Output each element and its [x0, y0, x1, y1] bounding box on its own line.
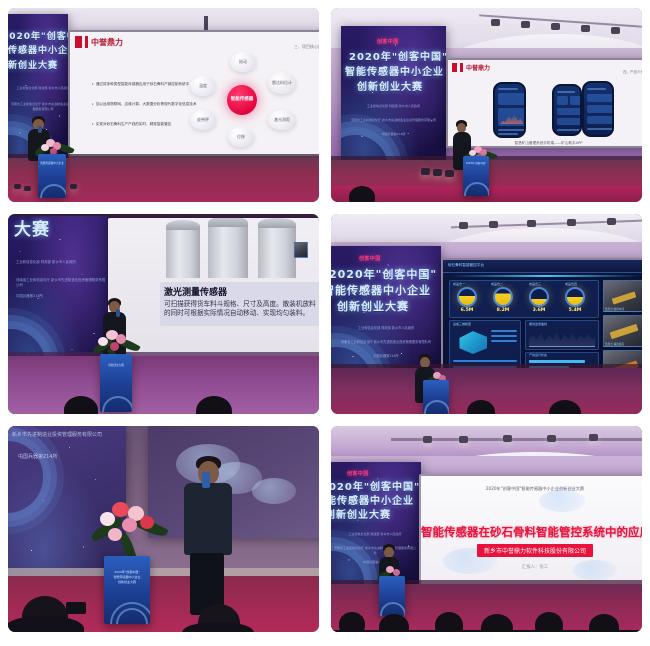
floor-light — [421, 168, 430, 175]
gauge-value-1: 6.5M — [455, 308, 479, 313]
backdrop-sponsor-1: 工业和信息化部 财政部 新乡市人民政府 — [345, 104, 442, 109]
podium-text-3: 创新创业大赛 — [104, 580, 150, 584]
backdrop-sponsor-institute: 中国兵器第214所 — [18, 454, 126, 462]
speaker-arm-left — [190, 488, 203, 530]
screen-hanger — [204, 16, 208, 30]
flower-petal — [122, 518, 137, 532]
gauge-label-3: 成品仓三 — [529, 282, 541, 286]
slide-logo: 中誉鼎力 — [75, 36, 123, 48]
logo-bar-icon — [75, 36, 82, 48]
backdrop-sponsor-3: 中国兵器第214所 — [16, 294, 106, 299]
stage-spotlight — [459, 436, 468, 443]
silo-structure — [208, 222, 248, 278]
photo-card-4[interactable]: 创客中国 2020年"创客中国" 智能传感器中小企业 创新创业大赛 工业和信息化… — [331, 214, 642, 414]
phone-card — [570, 96, 581, 105]
stage-spotlight — [607, 218, 616, 225]
camera-label-2: 监控点 输送廊道 — [605, 342, 624, 346]
silo-structure — [258, 224, 296, 278]
microphone-icon — [116, 309, 120, 317]
silo-structure — [166, 226, 200, 278]
podium: 2020年"创客中国" — [463, 156, 489, 196]
silo-top — [208, 218, 248, 227]
slide-header: 2020年"创客中国"智能传感器中小企业创新创业大赛 — [421, 486, 642, 492]
gauge-1 — [457, 287, 477, 307]
floor-light — [445, 170, 454, 177]
diagram-node-laser-range: 激光测距 — [268, 110, 296, 130]
gauge-3 — [529, 287, 549, 307]
podium-swirl-graphic — [424, 400, 449, 414]
slide-footer: 汇报人：张工 — [421, 564, 642, 570]
podium-swirl-graphic — [40, 184, 66, 198]
flower-petal — [110, 342, 119, 351]
slide-subtitle: 新乡市中誉鼎力软件科技股份有限公司 — [477, 544, 593, 557]
phone-card — [557, 96, 568, 105]
podium-text: 智能传感器中小企业 — [38, 162, 66, 166]
phone-card — [587, 105, 613, 113]
stage-spotlight — [551, 23, 560, 30]
stage-spotlight — [547, 435, 556, 442]
audience-body — [331, 630, 642, 632]
diagram-center-node: 智能传感器 — [227, 85, 257, 115]
slide-bullet-1: 通过将多种类型智能传感器应用于砂石骨料产销控制系统中 — [92, 82, 197, 87]
phone-row — [587, 128, 613, 130]
model-row — [491, 335, 517, 337]
floor-light — [70, 184, 77, 189]
list-bar — [529, 360, 585, 363]
microphone-icon — [38, 126, 42, 133]
stage-edge — [8, 352, 319, 356]
photo-card-1[interactable]: 2020年"创客中国" 智能传感器中小企业 创新创业大赛 工业和信息化部 财政部… — [8, 8, 319, 202]
gauge-value-4: 5.4M — [563, 308, 587, 313]
backdrop-title-line3: 创新创业大赛 — [331, 510, 391, 523]
camera-object — [610, 324, 639, 339]
backdrop-title-line2: 智能传感器中小企业 — [345, 67, 444, 80]
gauge-value-3: 3.6M — [527, 308, 551, 313]
photo-card-6[interactable]: 创客中国 2020年"创客中国" 智能传感器中小企业 创新创业大赛 工业和信息化… — [331, 426, 642, 632]
photo-5-scene: 新乡市先进制造业投资管理服务有限公司 中国兵器第214所 — [8, 426, 319, 632]
podium-text-1: 2020年"创客中国" — [104, 570, 150, 574]
diagram-node-radar-level: 雷达料位计 — [268, 72, 296, 94]
slide-brand: 中誉鼎力 — [466, 63, 490, 72]
podium: 2020年"创客中国" 智能传感器中小企业 创新创业大赛 — [104, 556, 150, 624]
camera-object — [612, 291, 637, 304]
projection-screen: 中誉鼎力 三、项目核心技术 通过将多种类型智能传感器应用于砂石骨料产销控制系统中… — [68, 30, 319, 158]
photo-gallery-grid: 2020年"创客中国" 智能传感器中小企业 创新创业大赛 工业和信息化部 财政部… — [0, 0, 650, 646]
wave-panel-label: 振动监测曲线 — [529, 322, 547, 326]
dashboard-title: 砂石骨料智能管控平台 — [448, 263, 484, 268]
stage-floor — [8, 356, 319, 414]
phone-card — [587, 116, 613, 124]
stage-edge — [331, 364, 642, 368]
phone-row — [498, 133, 518, 135]
backdrop-title-line1: 2020年"创客中国" — [349, 52, 446, 65]
backdrop-title-line3: 创新创业大赛 — [8, 61, 58, 72]
speaker-arm-right — [214, 488, 227, 530]
phone-mockup-mid — [552, 84, 582, 136]
model-row — [453, 360, 517, 362]
backdrop-sponsor-3: 中国兵器第214所 — [345, 132, 442, 137]
stage-spotlight — [423, 436, 432, 443]
phone-mockup-left — [493, 82, 526, 138]
photo-1-scene: 2020年"创客中国" 智能传感器中小企业 创新创业大赛 工业和信息化部 财政部… — [8, 8, 319, 202]
callout-box: 激光测量传感器 可扫描获得货车料斗规格、尺寸及高度。散装机放料的同时可根据实际情… — [160, 282, 319, 326]
backdrop-title-line1: 2020年"创客中国" — [331, 268, 437, 282]
stage-spotlight — [491, 19, 500, 26]
backdrop-logo: 创客中国 — [347, 470, 369, 477]
silo-equipment — [294, 242, 308, 258]
podium-text: 创新创业大赛 — [100, 364, 132, 368]
backdrop-sponsors-2: 河南省工业和信息化厅 新乡市先进制造业投资管理服务有限公司 — [10, 102, 68, 111]
callout-title: 激光测量传感器 — [164, 285, 316, 298]
backdrop-title-line2: 智能传感器中小企业 — [8, 46, 68, 57]
photo-card-3[interactable]: 大赛 工业和信息化部 财政部 新乡市人民政府 河南省工业和信息化厅 新乡市先进制… — [8, 214, 319, 414]
photo-4-scene: 创客中国 2020年"创客中国" 智能传感器中小企业 创新创业大赛 工业和信息化… — [331, 214, 642, 414]
stage-spotlight — [581, 25, 590, 32]
stage-edge — [8, 568, 319, 576]
list-panel-label: 产线运行状态 — [529, 353, 547, 357]
flower-petal — [112, 502, 129, 517]
flower-petal — [98, 337, 108, 346]
stage-spotlight — [589, 434, 598, 441]
cloud-graphic — [539, 490, 585, 512]
backdrop-title-partial: 大赛 — [14, 220, 50, 241]
podium-swirl-graphic — [464, 182, 489, 196]
phone-card — [557, 118, 581, 125]
podium — [379, 576, 405, 616]
stage-spotlight — [527, 220, 536, 227]
cloud-graphic — [252, 478, 296, 504]
backdrop-sponsor-2: 河南省工业和信息化厅 新乡市先进制造业投资管理服务有限公司 — [335, 340, 437, 345]
flower-petal — [41, 144, 49, 151]
cloud-graphic — [573, 560, 617, 580]
slide-bullet-3: 实现对砂石骨料生产产线的实时、精准智能管控 — [92, 122, 197, 127]
camera-label-1: 监控点 破碎车间 — [605, 307, 624, 311]
flower-petal — [100, 512, 115, 526]
gauge-label-2: 成品仓二 — [491, 282, 503, 286]
phone-row — [587, 88, 606, 90]
backdrop-sponsor-2: 河南省工业和信息化厅 新乡市先进制造业投资管理服务有限公司 — [345, 118, 442, 123]
backdrop-sponsor-2: 河南省工业和信息化厅 新乡市先进制造业投资管理服务有限公司 — [16, 278, 106, 288]
ceiling-arc — [63, 8, 319, 30]
microphone-icon — [202, 472, 210, 488]
projection-screen: 中誉鼎力 四、产品介绍 — [446, 58, 642, 148]
photo-3-scene: 大赛 工业和信息化部 财政部 新乡市人民政府 河南省工业和信息化厅 新乡市先进制… — [8, 214, 319, 414]
stage-spotlight — [521, 21, 530, 28]
dashboard-header: 砂石骨料智能管控平台 — [443, 260, 642, 273]
phone-row — [557, 91, 575, 93]
podium — [423, 380, 449, 414]
logo-bar-icon — [452, 63, 457, 72]
audience-head — [535, 612, 563, 632]
backdrop-title-line3: 创新创业大赛 — [337, 300, 409, 314]
podium-text-2: 智能传感器中小企业 — [104, 575, 150, 579]
gauge-value-2: 8.2M — [491, 308, 515, 313]
stage-spotlight — [489, 221, 498, 228]
phone-card — [498, 93, 525, 105]
backdrop-sponsor-1: 工业和信息化部 财政部 新乡市人民政府 — [333, 532, 417, 537]
audience-head — [349, 186, 375, 202]
slide-logo: 中誉鼎力 — [452, 63, 490, 72]
slide-section-label: 四、产品介绍 — [623, 70, 642, 75]
stage-spotlight — [567, 219, 576, 226]
podium: 智能传感器中小企业 — [38, 154, 66, 198]
floor-light — [433, 169, 442, 176]
photo-6-scene: 创客中国 2020年"创客中国" 智能传感器中小企业 创新创业大赛 工业和信息化… — [331, 426, 642, 632]
backdrop-logo: 创客中国 — [359, 255, 381, 262]
flower-petal — [480, 149, 487, 156]
phone-row — [498, 129, 525, 131]
phone-mockup-right — [582, 81, 614, 137]
flower-arrangement — [90, 498, 168, 560]
flower-petal — [108, 528, 122, 541]
photo-2-scene: 创客中国 2020年"创客中国" 智能传感器中小企业 创新创业大赛 工业和信息化… — [331, 8, 642, 202]
model-panel-label: 设备三维模型 — [453, 322, 471, 326]
silo-top — [258, 218, 296, 228]
stage-spotlight — [503, 435, 512, 442]
projection-screen: 2020年"创客中国"智能传感器中小企业创新创业大赛 智能传感器在砂石骨料智能管… — [419, 474, 642, 592]
diagram-node-belt-scale: 皮带秤 — [190, 110, 216, 130]
podium-text: 2020年"创客中国" — [463, 162, 489, 165]
flower-petal — [393, 569, 400, 576]
model-row — [491, 340, 517, 342]
gauge-label-1: 成品仓一 — [453, 282, 465, 286]
stage-spotlight — [611, 27, 620, 34]
backdrop-sponsor-1: 工业和信息化部 财政部 新乡市人民政府 — [335, 326, 437, 331]
phone-row — [557, 129, 581, 131]
callout-body: 可扫描获得货车料斗规格、尺寸及高度。散装机放料的同时可根据实际情况自动移动、实现… — [164, 300, 316, 318]
backdrop-sponsor-partial: 新乡市先进制造业投资管理服务有限公司 — [12, 432, 124, 440]
logo-bar-thin-icon — [460, 63, 463, 72]
stage-spotlight — [459, 222, 468, 229]
slide-brand: 中誉鼎力 — [91, 37, 123, 48]
floor-light — [14, 184, 21, 189]
backdrop-title-line2: 智能传感器中小企业 — [331, 496, 414, 509]
diagram-node-temperature: 温度 — [190, 76, 216, 96]
gauge-label-4: 成品仓四 — [565, 282, 577, 286]
photo-card-2[interactable]: 创客中国 2020年"创客中国" 智能传感器中小企业 创新创业大赛 工业和信息化… — [331, 8, 642, 202]
gauge-2 — [493, 287, 513, 307]
camera-equipment — [66, 602, 86, 614]
backdrop-title-line1: 2020年"创客中国" — [8, 32, 68, 43]
speaker — [180, 456, 236, 618]
photo-card-5[interactable]: 新乡市先进制造业投资管理服务有限公司 中国兵器第214所 — [8, 426, 319, 632]
gauge-4 — [565, 287, 585, 307]
flower-petal — [140, 516, 154, 529]
backdrop-logo: 创客中国 — [377, 38, 399, 45]
diagram-node-displacement: 位移 — [228, 127, 254, 147]
backdrop-sponsor-1: 工业和信息化部 财政部 新乡市人民政府 — [16, 260, 106, 265]
podium: 创新创业大赛 — [100, 354, 132, 412]
phone-card — [557, 108, 581, 115]
audience-head — [435, 612, 463, 632]
backdrop-title-line2: 智能传感器中小企业 — [331, 284, 431, 298]
diagram-node-vibration: 振动 — [230, 52, 256, 72]
slide-section-label: 三、项目核心技术 — [294, 44, 319, 50]
backdrop-sponsors: 工业和信息化部 财政部 新乡市人民政府 — [10, 86, 68, 91]
podium-swirl-graphic — [102, 396, 132, 412]
neon-line — [451, 275, 641, 277]
phone-row — [498, 88, 518, 90]
silo-top — [166, 220, 200, 230]
backdrop-title-line3: 创新创业大赛 — [357, 82, 423, 95]
phone-card — [587, 94, 613, 102]
audience-head — [339, 612, 365, 632]
model-row — [491, 330, 517, 332]
slide-title: 智能传感器在砂石骨料智能管控系统中的应用 — [421, 524, 642, 540]
backdrop-sponsor-2: 河南省工业和信息化厅 新乡市先进制造业投资管理服务有限公司 — [333, 546, 417, 555]
floor-light — [24, 186, 31, 191]
logo-bar-thin-icon — [85, 36, 88, 48]
slide-bullet-2: 加以运用物联网、边缘计算、大数据分析等现代数字化信息技术 — [92, 102, 197, 107]
backdrop-title-line1: 2020年"创客中国" — [331, 482, 420, 495]
